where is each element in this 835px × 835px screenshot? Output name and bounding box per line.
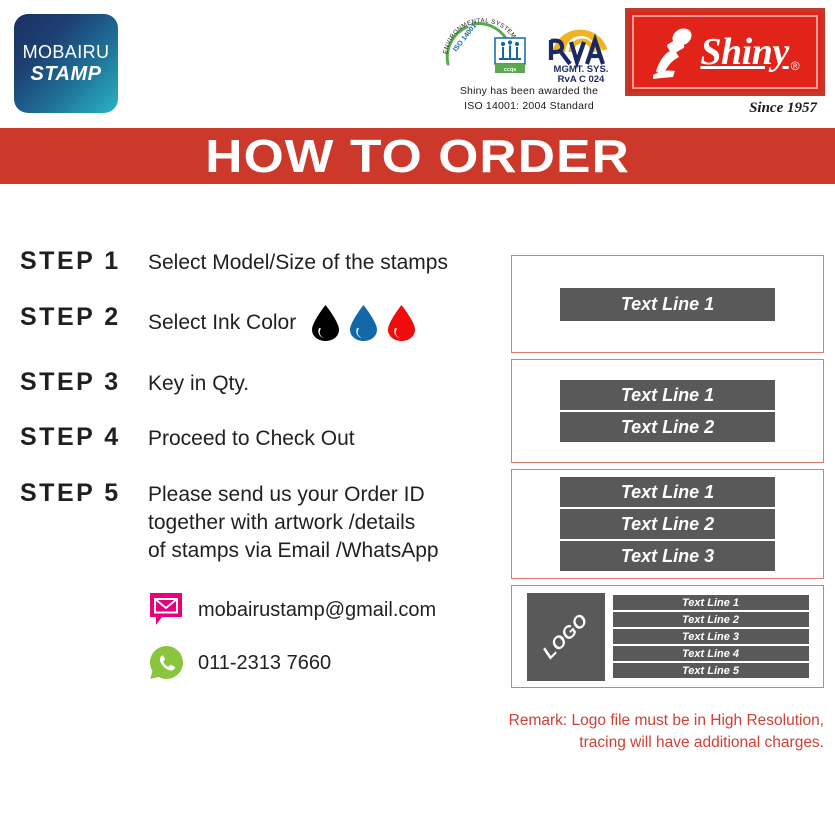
text-line-bar: Text Line 1 — [560, 380, 775, 410]
whatsapp-contact-row[interactable]: 011-2313 7660 — [148, 644, 490, 681]
logo-placeholder[interactable]: LOGO — [527, 593, 605, 681]
logo-placeholder-label: LOGO — [539, 610, 593, 664]
remark-line-2: tracing will have additional charges. — [400, 732, 824, 754]
contact-block: mobairustamp@gmail.com 011-2313 7660 — [148, 591, 490, 681]
shiny-wordmark: Shiny — [700, 33, 788, 71]
certification-logos: ENVIRONMENTAL SYSTEM CERTIFICATION ISO 1… — [436, 12, 622, 84]
text-line-bar: Text Line 2 — [560, 412, 775, 442]
how-to-order-banner: HOW TO ORDER — [0, 128, 835, 184]
text-line-bar: Text Line 2 — [560, 509, 775, 539]
shiny-stamp-icon — [650, 25, 698, 79]
step-2-label: STEP 2 — [20, 304, 148, 332]
text-line-bar: Text Line 4 — [613, 646, 809, 661]
stamp-preview-column: Text Line 1 Text Line 1 Text Line 2 Text… — [511, 255, 824, 694]
email-address[interactable]: mobairustamp@gmail.com — [198, 600, 436, 620]
logo-five-line-stamp-preview[interactable]: LOGO Text Line 1 Text Line 2 Text Line 3… — [511, 585, 824, 688]
whatsapp-icon[interactable] — [148, 644, 185, 681]
since-year-label: Since 1957 — [625, 100, 825, 117]
text-line-bar: Text Line 5 — [613, 663, 809, 678]
step-4-description: Proceed to Check Out — [148, 424, 355, 453]
text-line-bar: Text Line 3 — [613, 629, 809, 644]
step-3-label: STEP 3 — [20, 369, 148, 397]
rva-accreditation-icon: MGMT. SYS. RvA C 024 — [543, 12, 619, 84]
svg-text:RvA C 024: RvA C 024 — [558, 74, 605, 84]
step-5-label: STEP 5 — [20, 480, 148, 508]
step-3-description: Key in Qty. — [148, 369, 249, 398]
step-item-1: STEP 1 Select Model/Size of the stamps — [20, 248, 490, 277]
step-item-3: STEP 3 Key in Qty. — [20, 369, 490, 398]
one-line-stamp-preview[interactable]: Text Line 1 — [511, 255, 824, 353]
text-line-bar: Text Line 1 — [560, 477, 775, 507]
certification-caption-line-2: ISO 14001: 2004 Standard — [436, 100, 622, 114]
step-2-description: Select Ink Color — [148, 308, 296, 337]
page-header: MOBAIRU STAMP ENVIRONMENTAL SYSTEM CERTI… — [0, 0, 835, 125]
email-contact-row[interactable]: mobairustamp@gmail.com — [148, 591, 490, 628]
certification-caption-line-1: Shiny has been awarded the — [436, 85, 622, 99]
text-line-bar: Text Line 1 — [560, 288, 775, 321]
black-ink-drop-icon[interactable] — [310, 304, 341, 342]
step-5-description: Please send us your Order ID together wi… — [148, 480, 439, 564]
text-line-bar: Text Line 1 — [613, 595, 809, 610]
text-line-bar: Text Line 2 — [613, 612, 809, 627]
step-item-2: STEP 2 Select Ink Color — [20, 304, 490, 342]
phone-number[interactable]: 011-2313 7660 — [198, 653, 331, 673]
mobairu-stamp-logo: MOBAIRU STAMP — [14, 14, 118, 113]
svg-text:ccqs: ccqs — [504, 67, 517, 73]
iso-14001-environmental-certification-icon: ENVIRONMENTAL SYSTEM CERTIFICATION ISO 1… — [439, 12, 537, 84]
step-item-5: STEP 5 Please send us your Order ID toge… — [20, 480, 490, 564]
brand-name-top: MOBAIRU — [23, 43, 110, 61]
text-line-bar: Text Line 3 — [560, 541, 775, 571]
blue-ink-drop-icon[interactable] — [348, 304, 379, 342]
step-1-label: STEP 1 — [20, 248, 148, 276]
registered-trademark-icon: ® — [791, 59, 800, 73]
brand-name-bottom: STAMP — [30, 64, 101, 84]
ink-color-options — [310, 304, 417, 342]
step-item-4: STEP 4 Proceed to Check Out — [20, 424, 490, 453]
two-line-stamp-preview[interactable]: Text Line 1 Text Line 2 — [511, 359, 824, 463]
three-line-stamp-preview[interactable]: Text Line 1 Text Line 2 Text Line 3 — [511, 469, 824, 579]
remark-note: Remark: Logo file must be in High Resolu… — [400, 710, 824, 755]
shiny-brand-logo: Shiny ® — [625, 8, 825, 96]
step-4-label: STEP 4 — [20, 424, 148, 452]
email-envelope-icon[interactable] — [148, 591, 185, 628]
certification-block: ENVIRONMENTAL SYSTEM CERTIFICATION ISO 1… — [436, 12, 622, 113]
step-1-description: Select Model/Size of the stamps — [148, 248, 448, 277]
page-title: HOW TO ORDER — [205, 133, 630, 179]
red-ink-drop-icon[interactable] — [386, 304, 417, 342]
steps-list: STEP 1 Select Model/Size of the stamps S… — [20, 248, 490, 697]
remark-line-1: Remark: Logo file must be in High Resolu… — [400, 710, 824, 732]
